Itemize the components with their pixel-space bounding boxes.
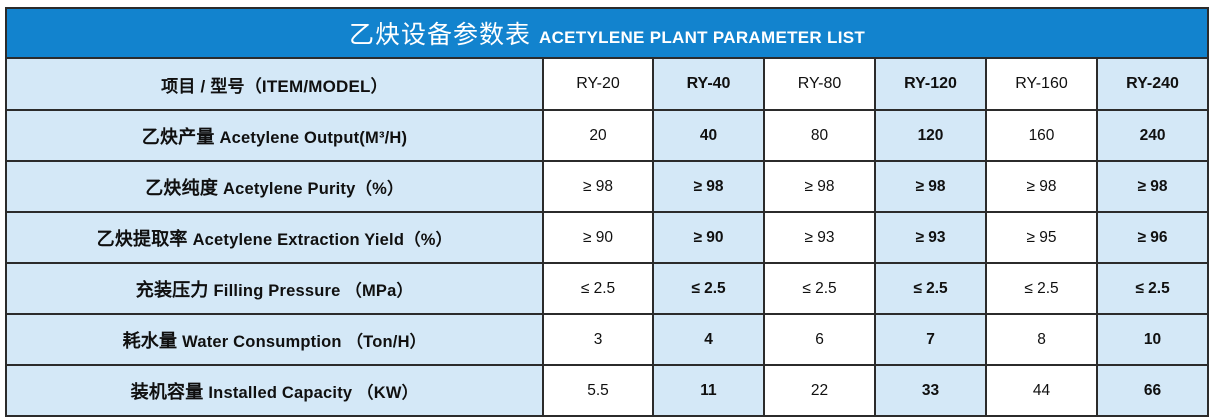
cell-purity-ry-80: ≥ 98 [764, 161, 875, 212]
table-row: 耗水量 Water Consumption （Ton/H） 3 4 6 7 8 … [6, 314, 1208, 365]
spec-sheet: 乙炔设备参数表 ACETYLENE PLANT PARAMETER LIST 项… [0, 0, 1212, 414]
row-label-acetylene-output: 乙炔产量 Acetylene Output(M³/H) [6, 110, 543, 161]
cell-water-ry-240: 10 [1097, 314, 1208, 365]
cell-purity-ry-120: ≥ 98 [875, 161, 986, 212]
cell-purity-ry-40: ≥ 98 [653, 161, 764, 212]
cell-output-ry-240: 240 [1097, 110, 1208, 161]
cell-output-ry-20: 20 [543, 110, 653, 161]
cell-pressure-ry-160: ≤ 2.5 [986, 263, 1097, 314]
row-label-water-consumption: 耗水量 Water Consumption （Ton/H） [6, 314, 543, 365]
title-chinese: 乙炔设备参数表 [349, 15, 531, 51]
cell-pressure-ry-120: ≤ 2.5 [875, 263, 986, 314]
row-label-cn: 乙炔纯度 [145, 178, 218, 198]
cell-capacity-ry-80: 22 [764, 365, 875, 416]
row-label-cn: 充装压力 [136, 280, 209, 300]
cell-yield-ry-240: ≥ 96 [1097, 212, 1208, 263]
cell-capacity-ry-20: 5.5 [543, 365, 653, 416]
row-label-extraction-yield: 乙炔提取率 Acetylene Extraction Yield（%） [6, 212, 543, 263]
row-label-en: Acetylene Extraction Yield（%） [193, 231, 453, 249]
cell-yield-ry-160: ≥ 95 [986, 212, 1097, 263]
cell-purity-ry-20: ≥ 98 [543, 161, 653, 212]
column-header-ry-240: RY-240 [1097, 58, 1208, 110]
column-header-ry-80: RY-80 [764, 58, 875, 110]
cell-capacity-ry-160: 44 [986, 365, 1097, 416]
cell-output-ry-120: 120 [875, 110, 986, 161]
cell-capacity-ry-240: 66 [1097, 365, 1208, 416]
column-header-item-model: 项目 / 型号（ITEM/MODEL） [6, 58, 543, 110]
cell-water-ry-40: 4 [653, 314, 764, 365]
row-label-en: Water Consumption （Ton/H） [182, 333, 426, 351]
cell-capacity-ry-120: 33 [875, 365, 986, 416]
cell-water-ry-80: 6 [764, 314, 875, 365]
row-label-cn: 乙炔产量 [142, 127, 215, 147]
table-title-cell: 乙炔设备参数表 ACETYLENE PLANT PARAMETER LIST [6, 8, 1208, 58]
column-header-ry-160: RY-160 [986, 58, 1097, 110]
row-label-cn: 乙炔提取率 [97, 229, 188, 249]
acetylene-plant-parameter-table: 乙炔设备参数表 ACETYLENE PLANT PARAMETER LIST 项… [5, 7, 1209, 417]
table-row: 乙炔提取率 Acetylene Extraction Yield（%） ≥ 90… [6, 212, 1208, 263]
table-header-row: 项目 / 型号（ITEM/MODEL） RY-20 RY-40 RY-80 RY… [6, 58, 1208, 110]
cell-purity-ry-240: ≥ 98 [1097, 161, 1208, 212]
cell-output-ry-40: 40 [653, 110, 764, 161]
table-row: 充装压力 Filling Pressure （MPa） ≤ 2.5 ≤ 2.5 … [6, 263, 1208, 314]
cell-purity-ry-160: ≥ 98 [986, 161, 1097, 212]
title-english: ACETYLENE PLANT PARAMETER LIST [539, 28, 865, 48]
column-header-ry-40: RY-40 [653, 58, 764, 110]
table-title-row: 乙炔设备参数表 ACETYLENE PLANT PARAMETER LIST [6, 8, 1208, 58]
title-wrap: 乙炔设备参数表 ACETYLENE PLANT PARAMETER LIST [7, 15, 1207, 51]
cell-yield-ry-20: ≥ 90 [543, 212, 653, 263]
cell-capacity-ry-40: 11 [653, 365, 764, 416]
row-label-filling-pressure: 充装压力 Filling Pressure （MPa） [6, 263, 543, 314]
table-row: 乙炔产量 Acetylene Output(M³/H) 20 40 80 120… [6, 110, 1208, 161]
cell-pressure-ry-80: ≤ 2.5 [764, 263, 875, 314]
cell-yield-ry-80: ≥ 93 [764, 212, 875, 263]
row-label-en: Filling Pressure （MPa） [214, 282, 414, 300]
row-label-en: Installed Capacity （KW） [208, 384, 418, 402]
cell-yield-ry-120: ≥ 93 [875, 212, 986, 263]
cell-pressure-ry-240: ≤ 2.5 [1097, 263, 1208, 314]
row-label-en: Acetylene Purity（%） [223, 180, 404, 198]
table-row: 装机容量 Installed Capacity （KW） 5.5 11 22 3… [6, 365, 1208, 416]
cell-yield-ry-40: ≥ 90 [653, 212, 764, 263]
row-label-cn: 耗水量 [123, 331, 178, 351]
cell-pressure-ry-20: ≤ 2.5 [543, 263, 653, 314]
row-label-en: Acetylene Output(M³/H) [220, 129, 408, 147]
cell-water-ry-160: 8 [986, 314, 1097, 365]
row-label-acetylene-purity: 乙炔纯度 Acetylene Purity（%） [6, 161, 543, 212]
table-row: 乙炔纯度 Acetylene Purity（%） ≥ 98 ≥ 98 ≥ 98 … [6, 161, 1208, 212]
column-header-ry-120: RY-120 [875, 58, 986, 110]
row-label-cn: 装机容量 [131, 382, 204, 402]
cell-water-ry-120: 7 [875, 314, 986, 365]
column-header-ry-20: RY-20 [543, 58, 653, 110]
cell-output-ry-160: 160 [986, 110, 1097, 161]
cell-output-ry-80: 80 [764, 110, 875, 161]
cell-pressure-ry-40: ≤ 2.5 [653, 263, 764, 314]
row-label-installed-capacity: 装机容量 Installed Capacity （KW） [6, 365, 543, 416]
cell-water-ry-20: 3 [543, 314, 653, 365]
